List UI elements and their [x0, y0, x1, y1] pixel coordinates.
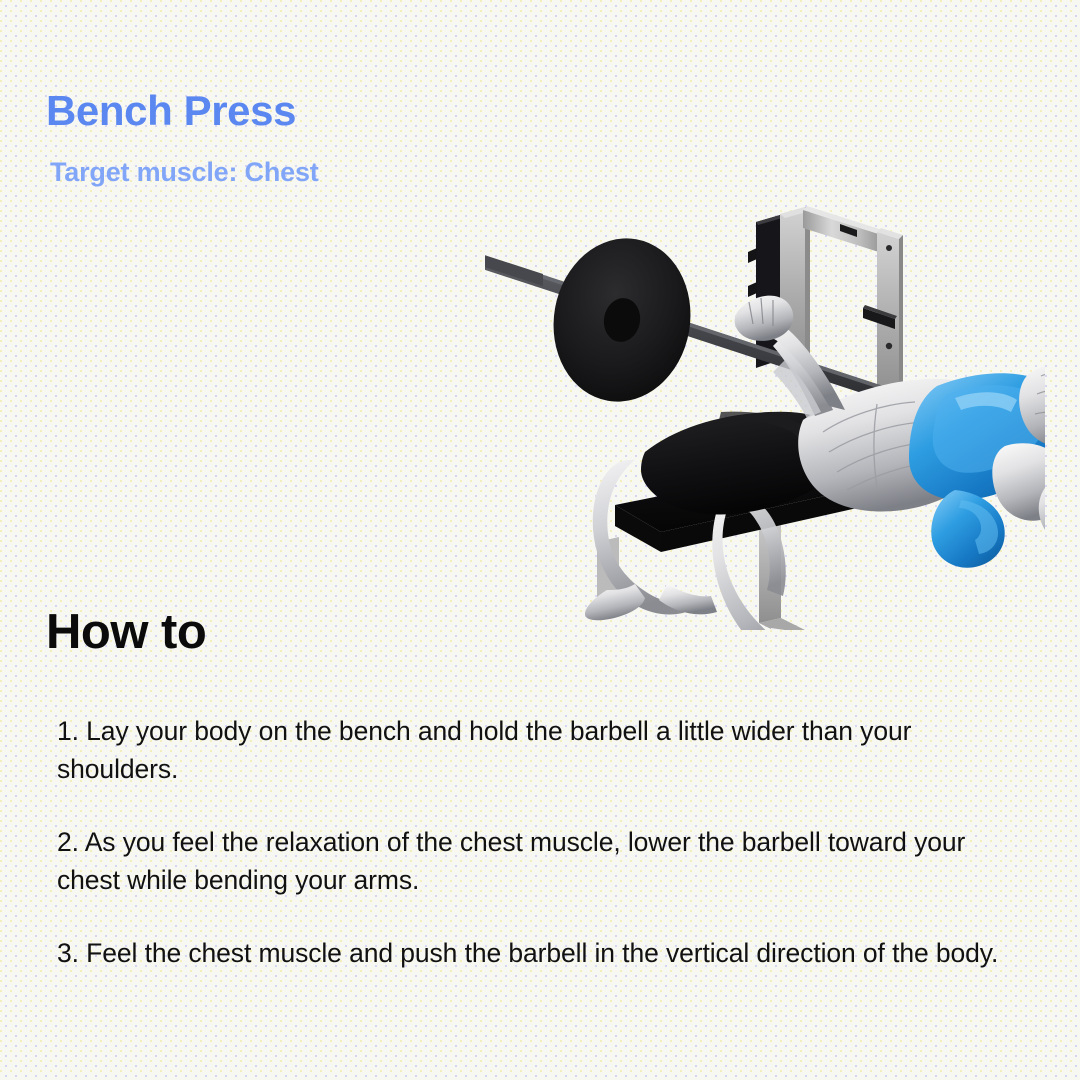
howto-step: 2. As you feel the relaxation of the che…	[57, 823, 1007, 900]
howto-step: 1. Lay your body on the bench and hold t…	[57, 712, 1007, 789]
exercise-card: Bench Press Target muscle: Chest	[0, 0, 1080, 1080]
page-title: Bench Press	[46, 90, 319, 132]
weight-plate-left	[485, 227, 703, 412]
target-muscle-subtitle: Target muscle: Chest	[46, 132, 319, 186]
header: Bench Press Target muscle: Chest	[46, 90, 319, 186]
howto-step: 3. Feel the chest muscle and push the ba…	[57, 934, 1007, 972]
howto-steps-list: 1. Lay your body on the bench and hold t…	[57, 712, 1007, 972]
bench-press-exercise-illustration	[485, 160, 1045, 630]
howto-heading: How to	[46, 608, 206, 657]
